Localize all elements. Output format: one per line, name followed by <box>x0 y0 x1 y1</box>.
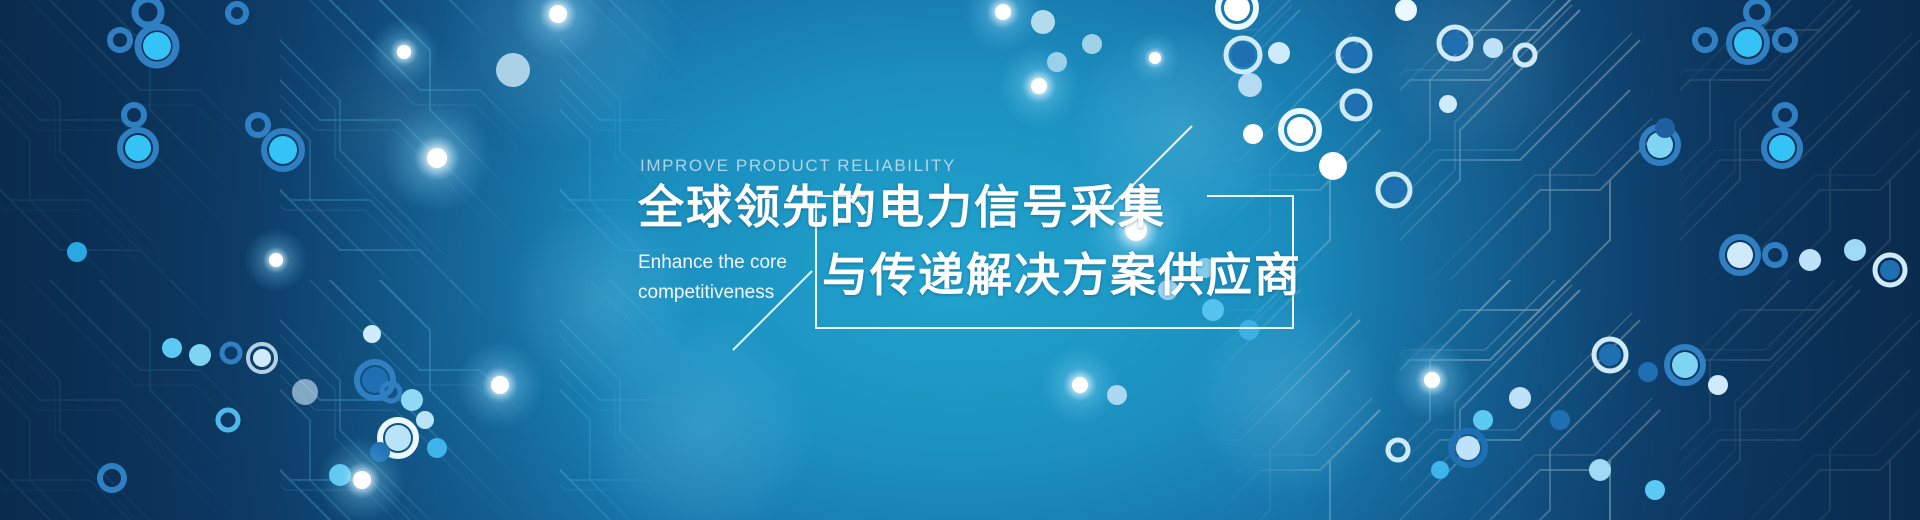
banner-subtitle: Enhance the core competitiveness <box>638 248 787 308</box>
banner-subtitle-line1: Enhance the core <box>638 248 787 278</box>
banner-headline-line2: 与传递解决方案供应商 <box>822 248 1302 302</box>
banner-eyebrow: IMPROVE PRODUCT RELIABILITY <box>640 156 956 176</box>
banner-content: IMPROVE PRODUCT RELIABILITY 全球领先的电力信号采集 … <box>0 0 1920 520</box>
banner-headline-line1: 全球领先的电力信号采集 <box>638 180 1166 234</box>
banner-subtitle-line2: competitiveness <box>638 278 787 308</box>
hero-banner: IMPROVE PRODUCT RELIABILITY 全球领先的电力信号采集 … <box>0 0 1920 520</box>
